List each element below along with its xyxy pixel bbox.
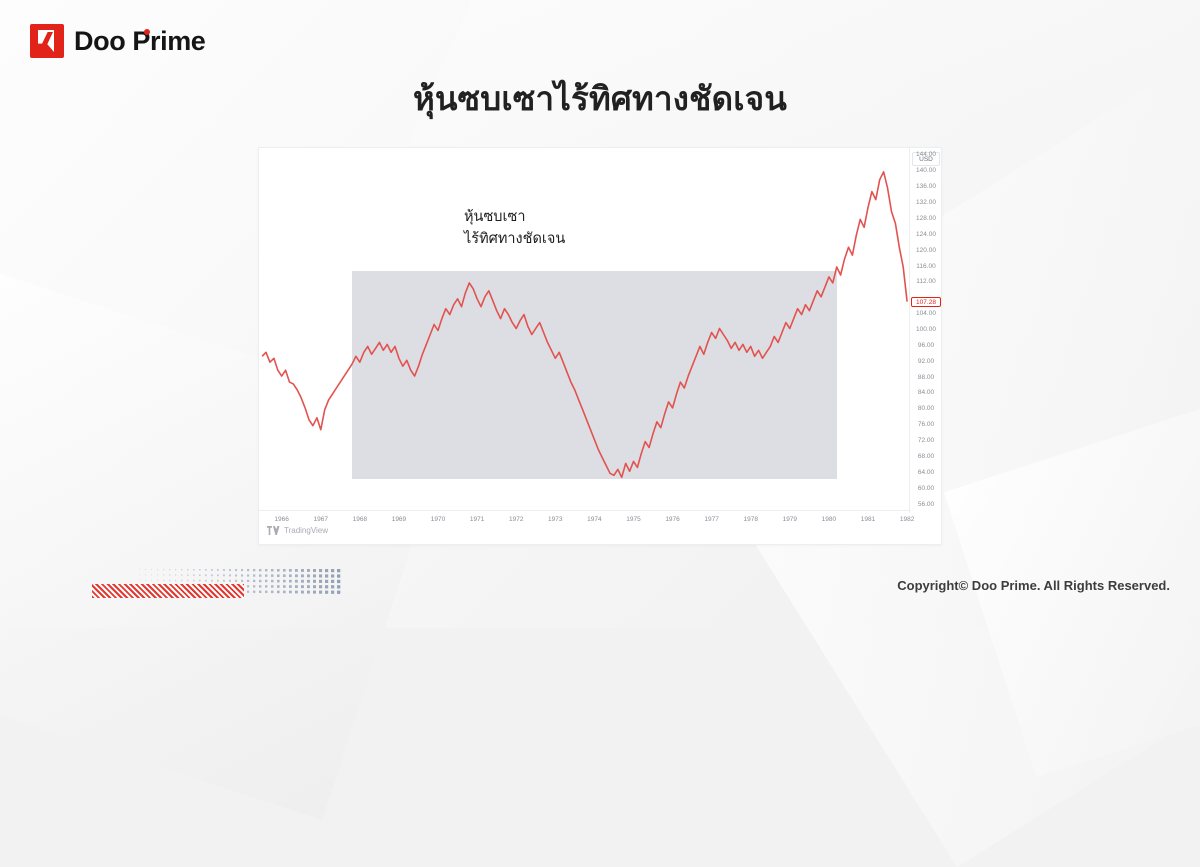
price-axis-tick: 72.00 bbox=[910, 438, 942, 445]
tradingview-watermark: TradingView bbox=[267, 526, 328, 535]
price-axis-tick: 120.00 bbox=[910, 248, 942, 255]
price-axis-tick: 136.00 bbox=[910, 184, 942, 191]
time-axis-tick: 1978 bbox=[744, 516, 758, 523]
brand-logo-label: Doo Prime bbox=[74, 26, 205, 56]
time-axis-tick: 1972 bbox=[509, 516, 523, 523]
price-axis-tick: 68.00 bbox=[910, 454, 942, 461]
brand-logo-accent-dot-icon bbox=[144, 29, 150, 35]
price-axis-tick: 92.00 bbox=[910, 359, 942, 366]
price-axis-tick: 80.00 bbox=[910, 406, 942, 413]
chart-time-axis[interactable]: 1966196719681969197019711972197319741975… bbox=[259, 510, 911, 511]
price-axis-tick: 56.00 bbox=[910, 502, 942, 509]
brand-logo-text: Doo Prime bbox=[74, 26, 205, 57]
brand-logo: Doo Prime bbox=[30, 24, 205, 58]
time-axis-tick: 1970 bbox=[431, 516, 445, 523]
chart-annotation-line2: ไร้ทิศทางชัดเจน bbox=[464, 228, 565, 250]
price-axis-tick: 116.00 bbox=[910, 264, 942, 271]
price-axis-tick: 144.00 bbox=[910, 152, 942, 159]
time-axis-tick: 1975 bbox=[626, 516, 640, 523]
price-axis-tick: 100.00 bbox=[910, 327, 942, 334]
time-axis-tick: 1968 bbox=[353, 516, 367, 523]
price-axis-tick: 76.00 bbox=[910, 422, 942, 429]
page-title: หุ้นซบเซาไร้ทิศทางชัดเจน bbox=[0, 72, 1200, 125]
price-axis-tick: 112.00 bbox=[910, 279, 942, 286]
price-axis-tick: 104.00 bbox=[910, 311, 942, 318]
price-axis-tick: 128.00 bbox=[910, 216, 942, 223]
time-axis-tick: 1980 bbox=[822, 516, 836, 523]
price-axis-tick: 140.00 bbox=[910, 168, 942, 175]
price-axis-tick: 60.00 bbox=[910, 486, 942, 493]
price-axis-tick: 64.00 bbox=[910, 470, 942, 477]
price-axis-tick: 88.00 bbox=[910, 375, 942, 382]
time-axis-tick: 1973 bbox=[548, 516, 562, 523]
time-axis-tick: 1971 bbox=[470, 516, 484, 523]
chart-plot-area[interactable]: หุ้นซบเซา ไร้ทิศทางชัดเจน bbox=[259, 148, 911, 513]
tradingview-logo-icon bbox=[267, 526, 280, 535]
chart-annotation-line1: หุ้นซบเซา bbox=[464, 206, 565, 228]
chart-annotation: หุ้นซบเซา ไร้ทิศทางชัดเจน bbox=[464, 206, 565, 251]
time-axis-tick: 1982 bbox=[900, 516, 914, 523]
time-axis-tick: 1967 bbox=[314, 516, 328, 523]
time-axis-tick: 1969 bbox=[392, 516, 406, 523]
doo-prime-flag-mark-icon bbox=[30, 24, 64, 58]
chart-line-series bbox=[259, 148, 911, 513]
price-axis-tick: 132.00 bbox=[910, 200, 942, 207]
striped-bar-decoration-icon bbox=[92, 584, 244, 598]
time-axis-tick: 1974 bbox=[587, 516, 601, 523]
time-axis-tick: 1981 bbox=[861, 516, 875, 523]
footer-copyright: Copyright© Doo Prime. All Rights Reserve… bbox=[897, 578, 1170, 593]
tradingview-watermark-label: TradingView bbox=[284, 526, 328, 535]
chart-price-axis[interactable]: USD 144.00140.00136.00132.00128.00124.00… bbox=[909, 148, 941, 513]
price-axis-tick: 84.00 bbox=[910, 390, 942, 397]
time-axis-tick: 1966 bbox=[274, 516, 288, 523]
time-axis-tick: 1977 bbox=[704, 516, 718, 523]
price-axis-tick: 124.00 bbox=[910, 232, 942, 239]
price-axis-tick: 96.00 bbox=[910, 343, 942, 350]
time-axis-tick: 1976 bbox=[665, 516, 679, 523]
time-axis-tick: 1979 bbox=[783, 516, 797, 523]
current-price-label: 107.28 bbox=[911, 297, 941, 307]
footer-decoration bbox=[92, 568, 342, 602]
chart-card: หุ้นซบเซา ไร้ทิศทางชัดเจน USD 144.00140.… bbox=[258, 147, 942, 545]
